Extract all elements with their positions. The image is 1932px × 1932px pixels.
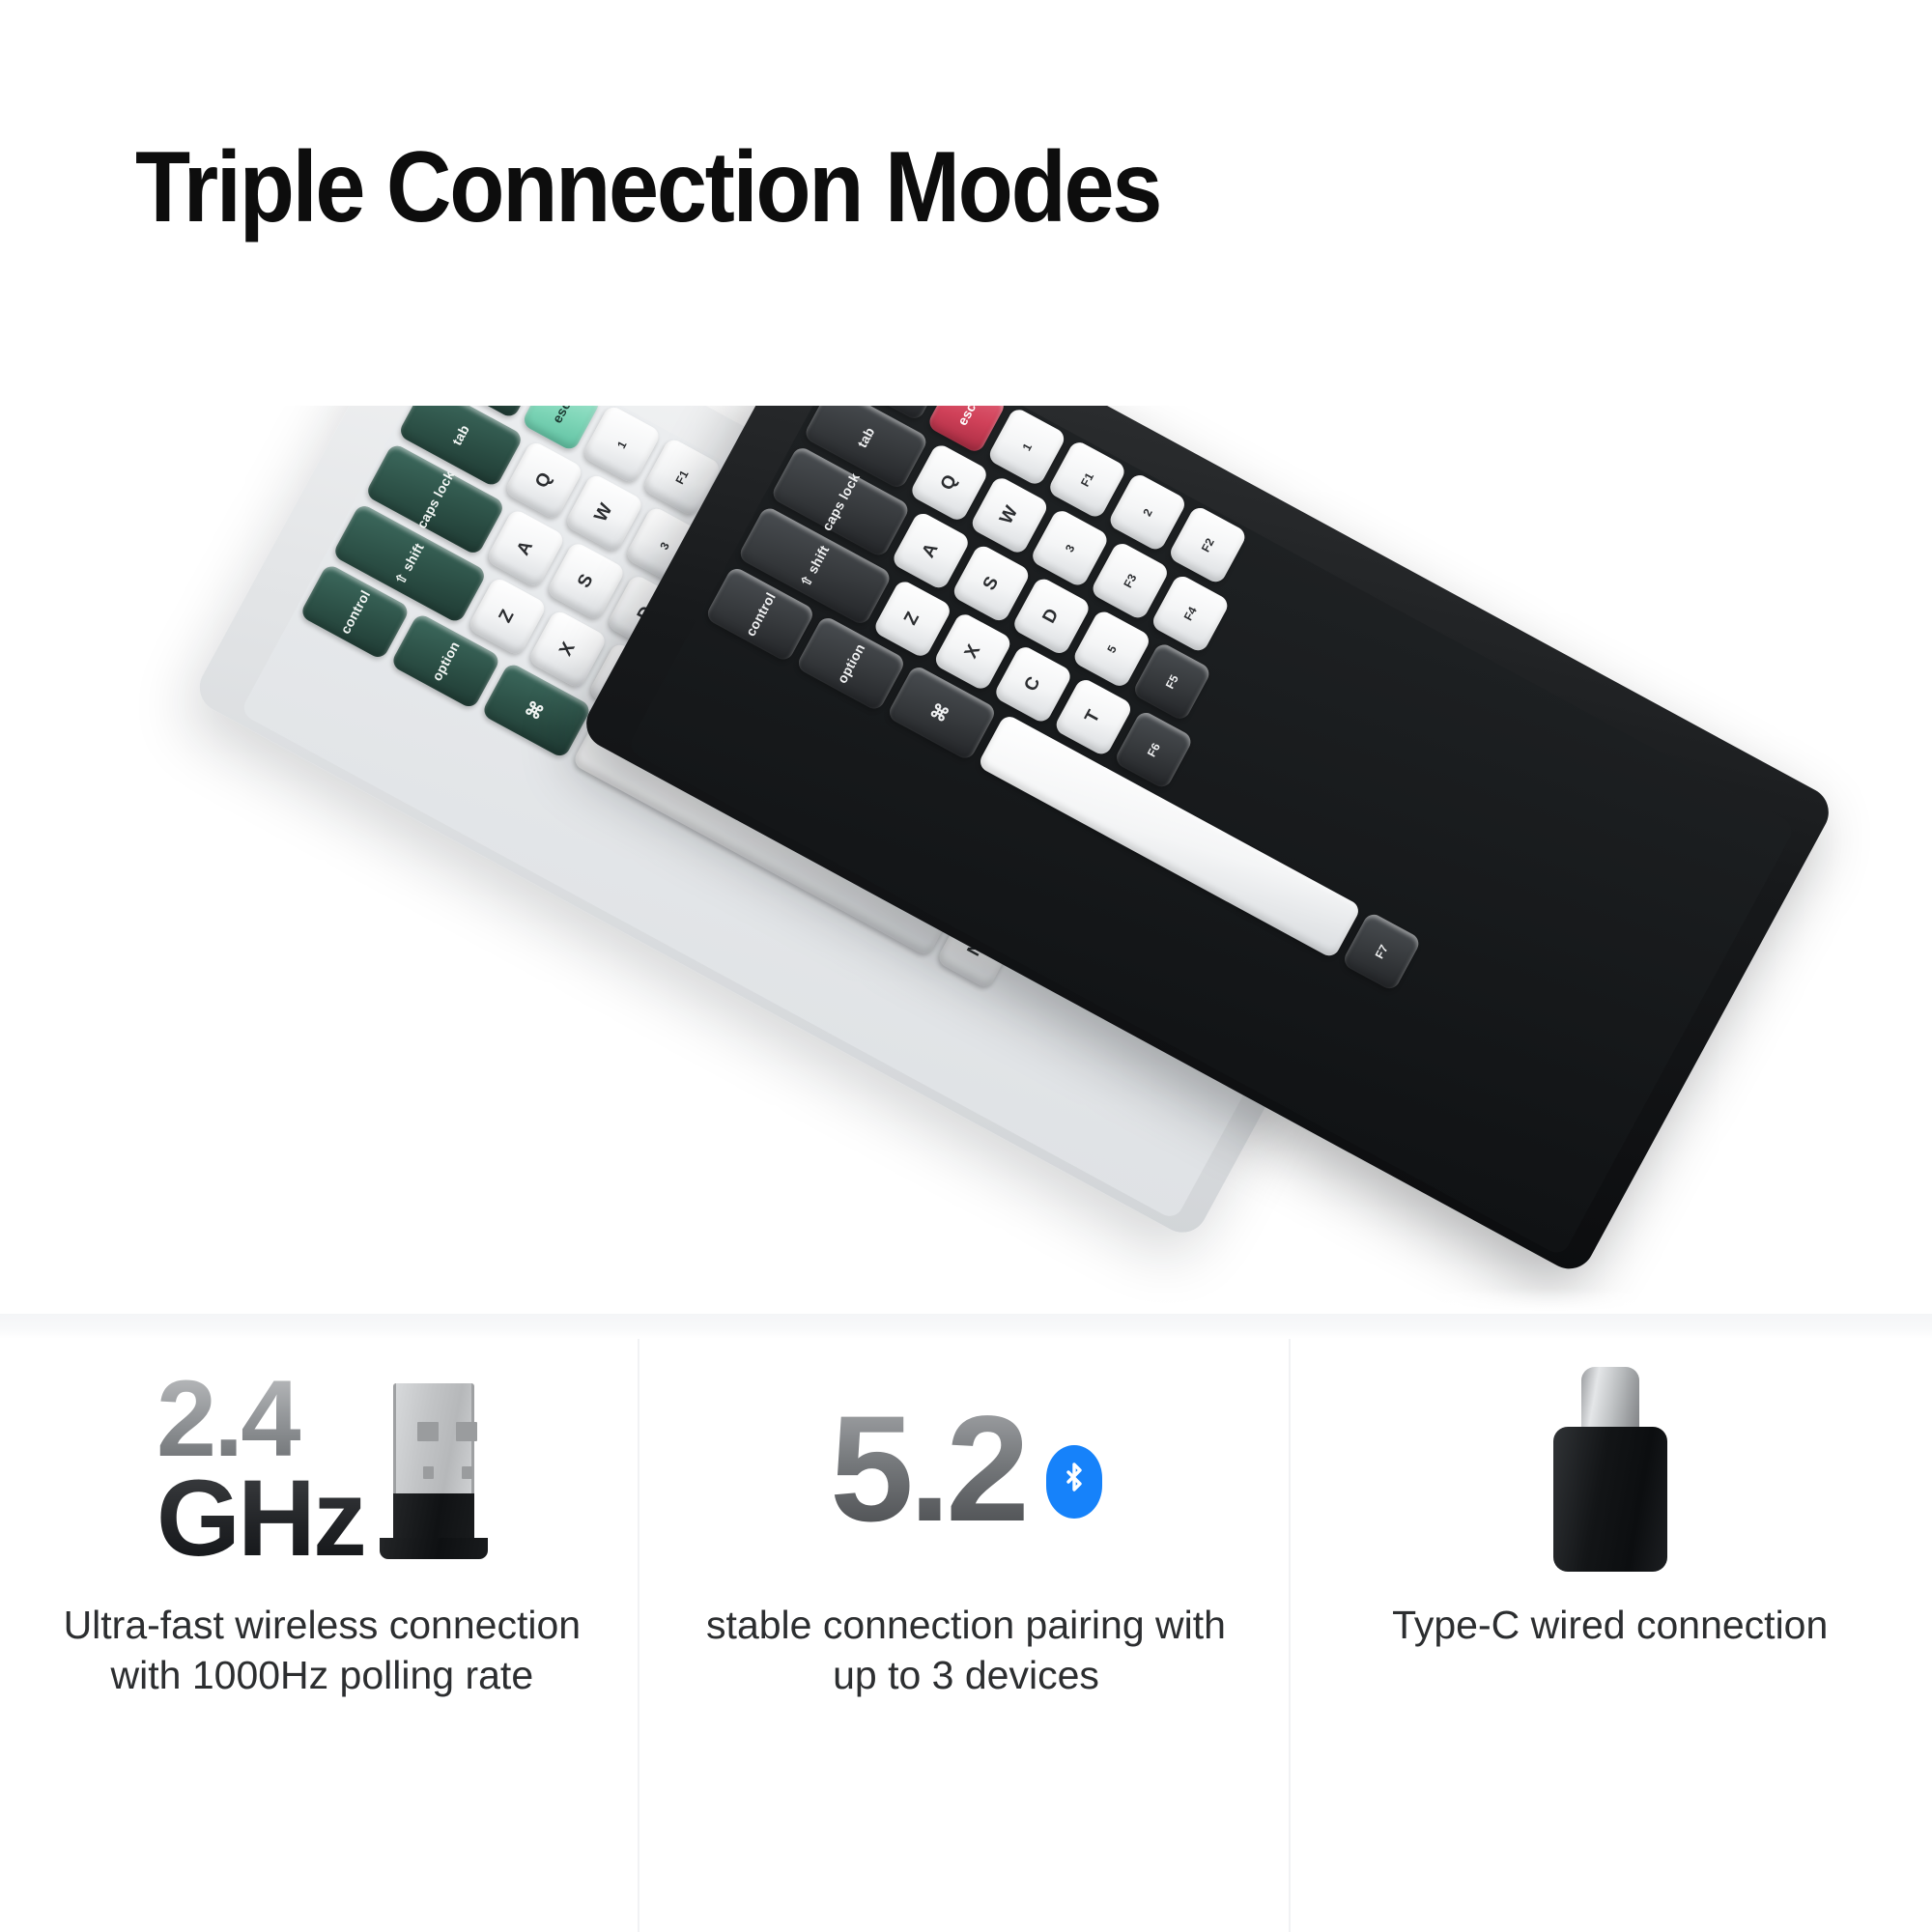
feature-wireless-24ghz: 2.4 GHz Ultra-fast wi bbox=[0, 1339, 644, 1932]
feature-visual-24ghz: 2.4 GHz bbox=[156, 1339, 488, 1600]
usb-dongle-base bbox=[380, 1538, 488, 1559]
feature-columns: 2.4 GHz Ultra-fast wi bbox=[0, 1339, 1932, 1932]
ghz-lockup: 2.4 GHz bbox=[156, 1372, 488, 1566]
bluetooth-version-value: 5.2 bbox=[830, 1394, 1025, 1545]
type-c-housing bbox=[1553, 1427, 1667, 1572]
feature-type-c-wired: Type-C wired connection bbox=[1288, 1339, 1932, 1932]
product-feature-page: Triple Connection Modes ` esc 1 F1 2 F2 bbox=[0, 0, 1932, 1932]
section-divider-horizontal bbox=[0, 1314, 1932, 1339]
feature-bluetooth-52: 5.2 stable connection pairing with up to… bbox=[644, 1339, 1289, 1932]
usb-dongle-metal-shell bbox=[393, 1383, 474, 1497]
page-title: Triple Connection Modes bbox=[135, 133, 1160, 241]
usb-dongle-icon bbox=[380, 1383, 488, 1561]
keyboard-stage: ` esc 1 F1 2 F2 tab Q W 3 F3 E bbox=[0, 406, 1932, 1314]
usb-contact-slot bbox=[423, 1466, 434, 1479]
ghz-text: 2.4 GHz bbox=[156, 1372, 364, 1566]
hero-bottom-fade bbox=[0, 1289, 1932, 1314]
feature-caption-type-c: Type-C wired connection bbox=[1392, 1600, 1828, 1650]
bluetooth-icon bbox=[1046, 1445, 1102, 1519]
bluetooth-lockup: 5.2 bbox=[830, 1394, 1102, 1545]
usb-contact-slot bbox=[462, 1466, 472, 1479]
keyboard-hero-image: ` esc 1 F1 2 F2 tab Q W 3 F3 E bbox=[0, 406, 1932, 1314]
usb-contact-slot bbox=[417, 1422, 439, 1441]
feature-visual-type-c bbox=[1553, 1339, 1667, 1600]
usb-dongle-body bbox=[393, 1493, 474, 1544]
usb-contact-slot bbox=[456, 1422, 477, 1441]
ghz-value: 2.4 bbox=[156, 1372, 364, 1467]
feature-caption-24ghz: Ultra-fast wireless connection with 1000… bbox=[51, 1600, 592, 1701]
feature-visual-bluetooth: 5.2 bbox=[830, 1339, 1102, 1600]
ghz-unit: GHz bbox=[156, 1471, 364, 1567]
feature-caption-bluetooth: stable connection pairing with up to 3 d… bbox=[696, 1600, 1236, 1701]
usb-type-c-connector-icon bbox=[1553, 1367, 1667, 1572]
